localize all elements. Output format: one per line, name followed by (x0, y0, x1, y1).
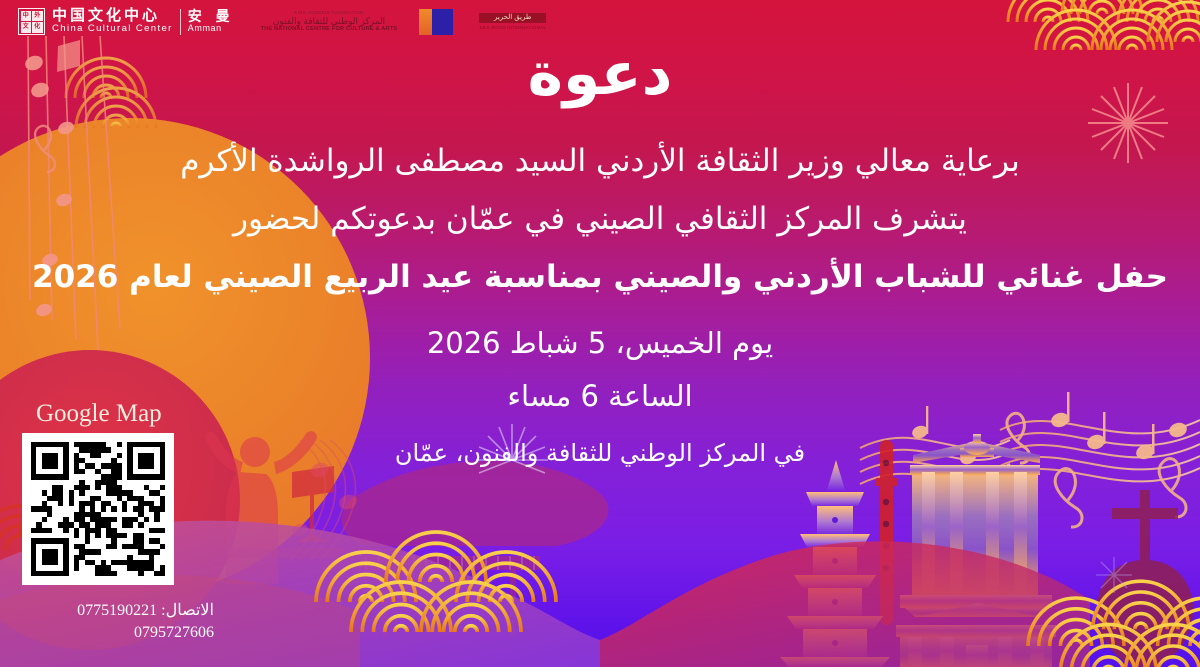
seal-char-2: 外 (32, 11, 43, 22)
invitation-text-block: دعوة برعاية معالي وزير الثقافة الأردني ا… (0, 0, 1200, 667)
ncca-english-line: THE NATIONAL CENTRE FOR CULTURE & ARTS (261, 26, 398, 32)
silk-road-arabic: طريق الحرير (479, 13, 546, 23)
orange-blue-emblem (419, 9, 453, 35)
event-line: حفل غنائي للشباب الأردني والصيني بمناسبة… (0, 258, 1200, 297)
ccc-city-chinese: 安 曼 (188, 9, 235, 24)
google-map-block[interactable]: Google Map (22, 400, 174, 585)
time-line: الساعة 6 مساء (0, 378, 1200, 414)
national-centre-logo: KING HUSSEIN FOUNDATION المركز الوطني لل… (261, 11, 398, 33)
contact-line-1: الاتصال: 0775190221 (14, 600, 214, 622)
ncca-arabic-line: المركز الوطني للثقافة والفنون (261, 16, 398, 26)
silk-road-english: SILK ROAD INTERNATIONAL (479, 25, 546, 30)
silk-road-logo: طريق الحرير SILK ROAD INTERNATIONAL (479, 13, 546, 30)
patron-line: برعاية معالي وزير الثقافة الأردني السيد … (0, 142, 1200, 181)
china-cultural-center-logo: 中 外 文 化 中国文化中心 China Cultural Center 安 曼… (18, 8, 235, 35)
qr-code-icon[interactable] (31, 442, 165, 576)
google-map-label: Google Map (36, 400, 174, 428)
logo-bar: 中 外 文 化 中国文化中心 China Cultural Center 安 曼… (18, 8, 546, 35)
ccc-city-english: Amman (188, 24, 235, 34)
contact-line-2: 0795727606 (14, 622, 214, 644)
venue-line: في المركز الوطني للثقافة والفنون، عمّان (0, 438, 1200, 468)
seal-char-1: 中 (21, 11, 32, 22)
emblem-left-band (419, 9, 432, 35)
qr-code-card[interactable] (22, 433, 174, 585)
emblem-right-band (432, 9, 453, 35)
ccc-seal-icon: 中 外 文 化 (18, 8, 45, 35)
contact-info: الاتصال: 0775190221 0795727606 (14, 600, 214, 643)
seal-char-4: 化 (32, 22, 43, 33)
date-line: يوم الخميس، 5 شباط 2026 (0, 325, 1200, 361)
page-title: دعوة (0, 44, 1200, 104)
invitation-poster: 中 外 文 化 中国文化中心 China Cultural Center 安 曼… (0, 0, 1200, 667)
host-line: يتشرف المركز الثقافي الصيني في عمّان بدع… (0, 200, 1200, 239)
ccc-english-name: China Cultural Center (52, 24, 173, 34)
logo-divider (180, 9, 181, 35)
seal-char-3: 文 (21, 22, 32, 33)
ccc-chinese-name: 中国文化中心 (52, 8, 173, 24)
